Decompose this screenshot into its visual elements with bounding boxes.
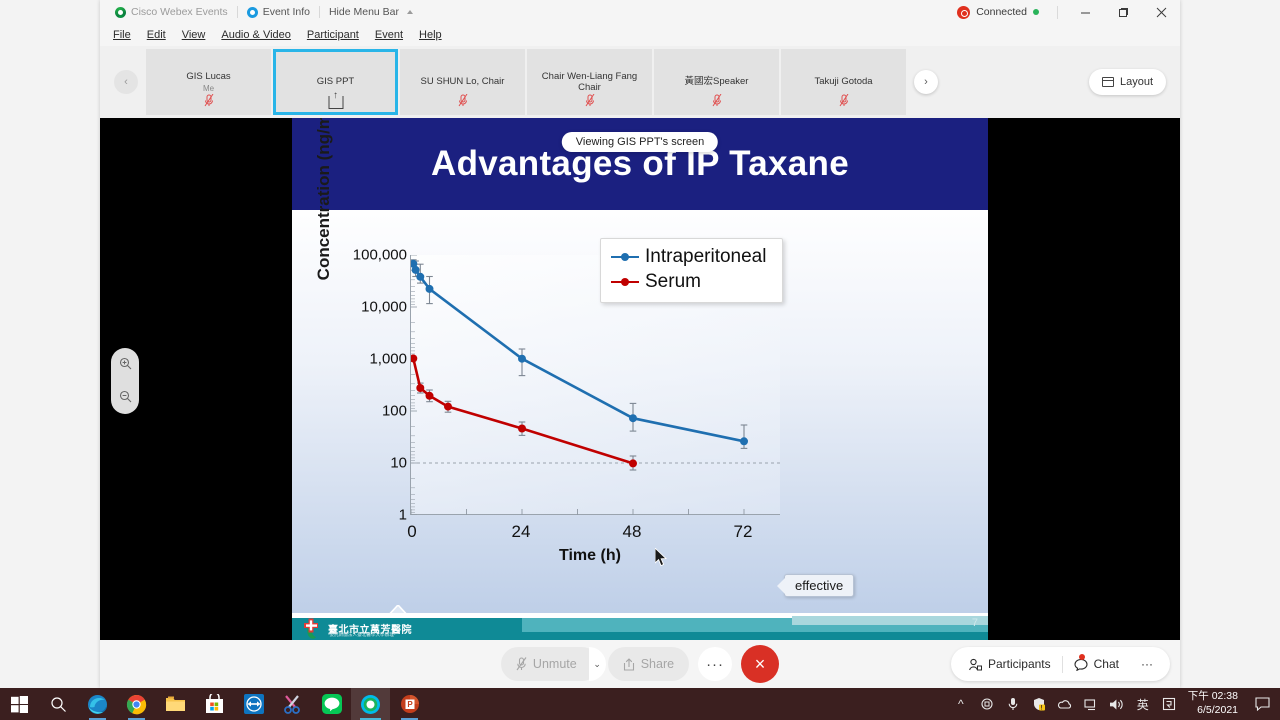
meeting-control-bar: Unmute ⌄ Share ··· ×: [100, 640, 1180, 688]
participant-tile-speaker[interactable]: 黃國宏Speaker: [654, 49, 779, 115]
teamviewer-icon[interactable]: [234, 688, 273, 720]
volume-tray-icon[interactable]: [1104, 688, 1130, 720]
file-explorer-icon[interactable]: [156, 688, 195, 720]
chart-legend: Intraperitoneal Serum: [600, 238, 783, 303]
y-tick-label: 1,000: [317, 351, 407, 368]
webex-icon[interactable]: [351, 688, 390, 720]
y-tick-label: 1: [317, 507, 407, 524]
slide-title-banner: Advantages of IP Taxane Viewing GIS PPT'…: [292, 118, 988, 210]
line-icon[interactable]: [312, 688, 351, 720]
slide-number: 7: [972, 617, 978, 629]
snipping-tool-icon[interactable]: [273, 688, 312, 720]
search-icon[interactable]: [39, 688, 78, 720]
y-tick-label: 100,000: [317, 247, 407, 264]
hide-menu-bar-label: Hide Menu Bar: [329, 6, 399, 18]
close-button[interactable]: [1142, 0, 1180, 24]
mic-off-icon: [712, 94, 722, 112]
menu-audio-video[interactable]: Audio & Video: [214, 27, 298, 43]
taskbar-icons: P: [0, 688, 429, 720]
unmute-button[interactable]: Unmute ⌄: [501, 647, 599, 681]
zoom-controls: [111, 348, 139, 414]
menu-edit[interactable]: Edit: [140, 27, 173, 43]
more-options-button[interactable]: ···: [698, 647, 732, 681]
participant-tile-gis-ppt[interactable]: GIS PPT: [273, 49, 398, 115]
svg-text:P: P: [407, 700, 413, 709]
slide-footer: 臺北市立萬芳醫院 -委託財團法人臺北醫學大學辦理- 7: [292, 613, 988, 640]
chart-x-axis-label: Time (h): [559, 547, 621, 565]
minimize-button[interactable]: [1066, 0, 1104, 24]
participant-tile-sublabel: Me: [203, 84, 214, 93]
participant-tile-gis-lucas[interactable]: GIS Lucas Me: [146, 49, 271, 115]
status-dot-icon: [1033, 9, 1039, 15]
menu-edit-label: Edit: [147, 29, 166, 41]
x-tick-label: 24: [512, 522, 531, 542]
chevron-up-icon: [407, 10, 413, 14]
mic-off-icon: [516, 657, 527, 671]
mic-off-icon: [458, 94, 468, 112]
y-tick-label: 100: [317, 403, 407, 420]
viewing-screen-banner: Viewing GIS PPT's screen: [562, 132, 718, 152]
legend-label: Serum: [645, 271, 701, 293]
microphone-tray-icon[interactable]: [1000, 688, 1026, 720]
legend-item-intraperitoneal: Intraperitoneal: [611, 246, 766, 268]
menu-view-label: View: [182, 29, 206, 41]
layout-button-label: Layout: [1120, 76, 1153, 88]
menu-help-label: Help: [419, 29, 442, 41]
windows-start-icon[interactable]: [0, 688, 39, 720]
unmute-label: Unmute: [533, 657, 577, 671]
titlebar-divider-3: [1057, 6, 1058, 19]
x-tick-label: 48: [623, 522, 642, 542]
y-tick-label: 10,000: [317, 299, 407, 316]
participant-tile-label: GIS Lucas: [182, 71, 234, 82]
event-info-button[interactable]: Event Info: [238, 0, 319, 24]
event-info-label: Event Info: [263, 6, 310, 18]
share-icon: [623, 658, 635, 671]
y-tick-label: 10: [317, 455, 407, 472]
mic-off-icon: [204, 94, 214, 112]
layout-button[interactable]: Layout: [1089, 69, 1166, 95]
thumbstrip-next-button[interactable]: ›: [914, 70, 938, 94]
webex-window: Cisco Webex Events Event Info Hide Menu …: [100, 0, 1180, 688]
powerpoint-icon[interactable]: P: [390, 688, 429, 720]
chat-notification-dot: [1079, 654, 1085, 660]
participants-button[interactable]: Participants: [957, 647, 1062, 681]
hospital-logo-icon: [302, 617, 324, 640]
menu-participant[interactable]: Participant: [300, 27, 366, 43]
participants-icon: [968, 658, 982, 671]
series-line-serum: [413, 359, 633, 464]
x-tick-label: 0: [407, 522, 416, 542]
app-title: Cisco Webex Events: [106, 0, 237, 24]
serum-error-bars: [417, 383, 636, 470]
ime-mode-icon[interactable]: [1156, 688, 1182, 720]
menu-bar: File Edit View Audio & Video Participant…: [100, 24, 1180, 46]
participant-tile-su-shun-lo[interactable]: SU SHUN Lo, Chair: [400, 49, 525, 115]
menu-help[interactable]: Help: [412, 27, 449, 43]
mouse-cursor: [655, 548, 668, 567]
onedrive-tray-icon[interactable]: [1052, 688, 1078, 720]
participant-tile-label: Takuji Gotoda: [810, 76, 876, 87]
chart-y-ticks: 100,000 10,000 1,000 100 10 1: [317, 210, 407, 605]
hide-menu-bar-button[interactable]: Hide Menu Bar: [320, 0, 422, 24]
participant-tile-label: Chair Wen-Liang Fang Chair: [527, 71, 652, 94]
layout-icon: [1102, 77, 1114, 87]
svg-text:!: !: [1040, 706, 1042, 711]
participant-tile-wen-liang-fang[interactable]: Chair Wen-Liang Fang Chair: [527, 49, 652, 115]
series-markers-serum: [411, 355, 637, 468]
legend-marker-icon: [611, 276, 639, 288]
menu-event-label: Event: [375, 29, 403, 41]
menu-view[interactable]: View: [175, 27, 213, 43]
clock-date: 6/5/2021: [1188, 704, 1238, 718]
window-titlebar: Cisco Webex Events Event Info Hide Menu …: [100, 0, 1180, 24]
menu-file[interactable]: File: [106, 27, 138, 43]
right-control-group: Participants Chat ···: [951, 647, 1170, 681]
show-hidden-icons-button[interactable]: ^: [948, 688, 974, 720]
share-label: Share: [641, 657, 674, 671]
connection-status-label: Connected: [976, 6, 1027, 18]
participant-tile-label: GIS PPT: [313, 76, 358, 87]
participant-tile-label: 黃國宏Speaker: [681, 76, 753, 87]
maximize-button[interactable]: [1104, 0, 1142, 24]
webex-tray-icon[interactable]: [974, 688, 1000, 720]
windows-taskbar: P ^: [0, 688, 1280, 720]
clock-time: 下午 02:38: [1188, 690, 1238, 704]
chat-label: Chat: [1094, 657, 1119, 671]
right-more-button[interactable]: ···: [1130, 647, 1164, 681]
share-button[interactable]: Share: [608, 647, 689, 681]
mic-off-icon: [585, 94, 595, 112]
pharmacokinetics-chart: Concentration (ng/ml) 100,000 10,000 1,0…: [292, 210, 988, 605]
microsoft-store-icon[interactable]: [195, 688, 234, 720]
app-title-label: Cisco Webex Events: [131, 6, 228, 18]
mic-off-icon: [839, 94, 849, 112]
screen-share-icon: [328, 96, 343, 109]
chat-button[interactable]: Chat: [1063, 647, 1130, 681]
thumbnail-tiles: GIS Lucas Me GIS PPT: [146, 49, 906, 115]
chrome-icon[interactable]: [117, 688, 156, 720]
audio-options-caret[interactable]: ⌄: [589, 647, 606, 681]
participant-thumbnail-strip: ‹ GIS Lucas Me GIS PPT: [100, 46, 1180, 118]
participant-tile-label: SU SHUN Lo, Chair: [417, 76, 509, 87]
leave-meeting-button[interactable]: ×: [741, 645, 779, 683]
hospital-subtitle: -委託財團法人臺北醫學大學辦理-: [328, 632, 395, 638]
effective-callout: effective: [784, 574, 854, 597]
legend-label: Intraperitoneal: [645, 246, 766, 268]
menu-audio-video-label: Audio & Video: [221, 29, 291, 41]
clock[interactable]: 下午 02:38 6/5/2021: [1182, 690, 1248, 717]
recording-icon: [957, 6, 970, 19]
legend-item-serum: Serum: [611, 271, 766, 293]
system-tray: ^ !: [948, 688, 1280, 720]
zoom-out-icon[interactable]: [119, 390, 132, 406]
participants-label: Participants: [988, 657, 1051, 671]
zoom-in-icon[interactable]: [119, 357, 132, 373]
screen-root: Cisco Webex Events Event Info Hide Menu …: [0, 0, 1280, 720]
security-shield-icon[interactable]: !: [1026, 688, 1052, 720]
slide-body: Concentration (ng/ml) 100,000 10,000 1,0…: [292, 210, 988, 640]
shared-content-stage: Advantages of IP Taxane Viewing GIS PPT'…: [100, 118, 1180, 640]
edge-icon[interactable]: [78, 688, 117, 720]
presentation-slide: Advantages of IP Taxane Viewing GIS PPT'…: [292, 118, 988, 640]
network-tray-icon[interactable]: [1078, 688, 1104, 720]
event-info-icon: [247, 7, 258, 18]
ime-language-indicator[interactable]: 英: [1130, 688, 1156, 720]
footer-band-pale: [792, 616, 988, 625]
thumbstrip-prev-button[interactable]: ‹: [114, 70, 138, 94]
menu-participant-label: Participant: [307, 29, 359, 41]
action-center-icon[interactable]: [1248, 688, 1276, 720]
legend-marker-icon: [611, 251, 639, 263]
x-tick-label: 72: [734, 522, 753, 542]
menu-file-label: File: [113, 29, 131, 41]
webex-logo-icon: [115, 7, 126, 18]
participant-tile-takuji-gotoda[interactable]: Takuji Gotoda: [781, 49, 906, 115]
menu-event[interactable]: Event: [368, 27, 410, 43]
connection-status: Connected: [957, 6, 1049, 19]
